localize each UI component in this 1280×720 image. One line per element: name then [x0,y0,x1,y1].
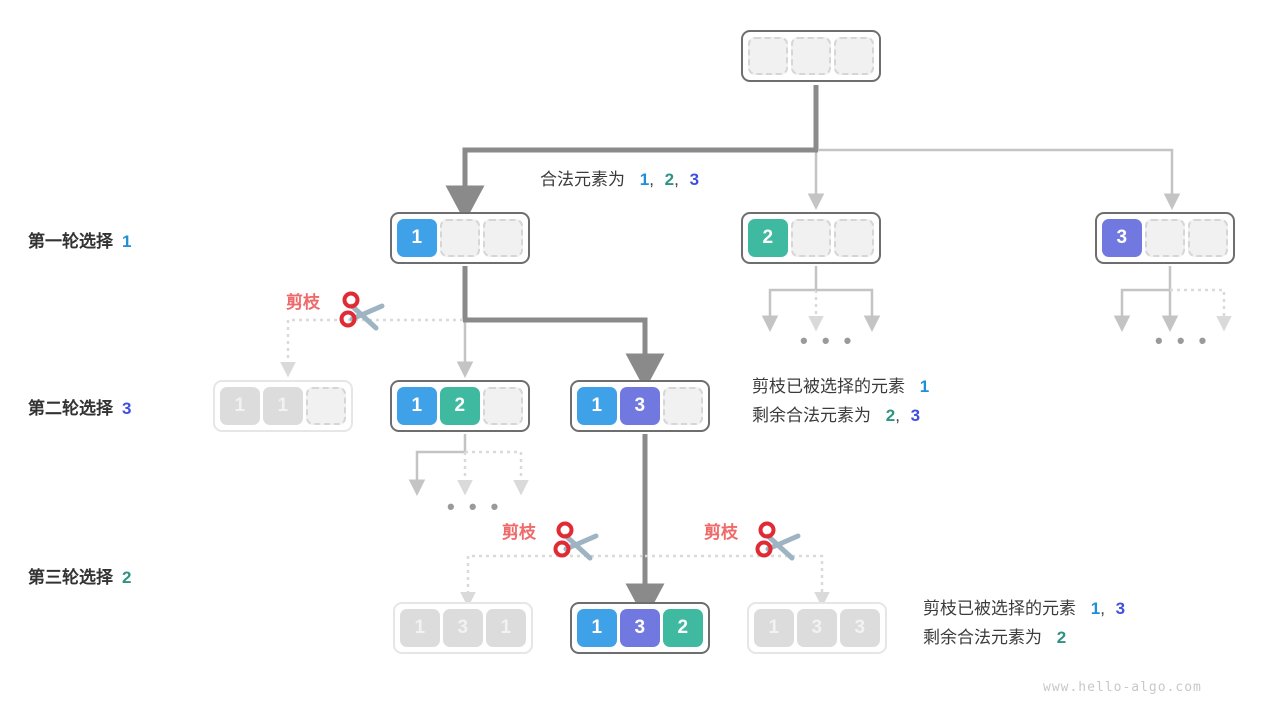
row-label-round-1: 第一轮选择1 [28,227,131,252]
node-cell [663,387,703,425]
annotation-prefix: 剪枝已被选择的元素 [923,599,1076,618]
node-cell [440,219,480,257]
node-cell: 1 [754,609,794,647]
annotation-value: 2 [665,170,674,189]
row-label-round-3: 第三轮选择2 [28,563,131,588]
annotation-value: 2 [886,406,895,425]
row-label-text: 第一轮选择 [28,232,113,251]
node-cell: 3 [620,387,660,425]
diagram-canvas: 1 2 3 1 1 1 2 1 3 1 3 1 1 3 2 1 [0,0,1280,720]
node-level1-2[interactable]: 2 [741,212,881,264]
annotation-prune-middle: 剪枝已被选择的元素 1 剩余合法元素为 2, 3 [752,372,929,430]
annotation-value: 1 [1091,599,1100,618]
node-cell [748,37,788,75]
node-cell [1145,219,1185,257]
node-cell: 3 [840,609,880,647]
node-cell: 2 [663,609,703,647]
node-cell [1188,219,1228,257]
node-cell: 1 [220,387,260,425]
node-cell [791,37,831,75]
annotation-prefix: 剩余合法元素为 [752,406,871,425]
ellipsis-under-node-3: • • • [1155,330,1210,352]
node-cell [483,387,523,425]
annotation-prefix: 剪枝已被选择的元素 [752,377,905,396]
annotation-prefix: 合法元素为 [540,170,625,189]
row-label-text: 第二轮选择 [28,399,113,418]
annotation-prefix: 剩余合法元素为 [923,628,1042,647]
watermark: www.hello-algo.com [1043,680,1202,695]
scissors-icon-1 [332,288,388,340]
node-cell [306,387,346,425]
node-cell: 2 [440,387,480,425]
annotation-line: 剩余合法元素为 2 [923,623,1125,652]
annotation-line: 剪枝已被选择的元素 1, 3 [923,594,1125,623]
scissors-icon-3 [748,518,804,570]
annotation-prune-bottom: 剪枝已被选择的元素 1, 3 剩余合法元素为 2 [923,594,1125,652]
annotation-value: 3 [1116,599,1125,618]
annotation-line: 剪枝已被选择的元素 1 [752,372,929,401]
annotation-line: 剩余合法元素为 2, 3 [752,401,929,430]
node-cell: 3 [797,609,837,647]
node-level3-pruned-131[interactable]: 1 3 1 [393,602,533,654]
annotation-value: 1 [640,170,649,189]
ellipsis-under-node-12: • • • [447,496,502,518]
node-level1-1[interactable]: 1 [390,212,530,264]
annotation-value: 3 [690,170,699,189]
node-cell: 1 [486,609,526,647]
row-label-text: 第三轮选择 [28,568,113,587]
node-cell: 1 [577,609,617,647]
node-level3-pruned-133[interactable]: 1 3 3 [747,602,887,654]
node-level2-12[interactable]: 1 2 [390,380,530,432]
prune-label-3: 剪枝 [704,518,738,543]
prune-label-1: 剪枝 [286,288,320,313]
node-cell: 1 [577,387,617,425]
node-cell: 1 [263,387,303,425]
node-level1-3[interactable]: 3 [1095,212,1235,264]
scissors-icon-2 [546,518,602,570]
node-cell: 1 [397,219,437,257]
node-cell [834,219,874,257]
node-level2-13[interactable]: 1 3 [570,380,710,432]
node-cell: 3 [443,609,483,647]
row-label-round-2: 第二轮选择3 [28,394,131,419]
node-cell [791,219,831,257]
node-cell: 1 [397,387,437,425]
node-cell: 3 [620,609,660,647]
node-level2-pruned-11[interactable]: 1 1 [213,380,353,432]
annotation-legal-elements-top: 合法元素为 1, 2, 3 [540,165,699,194]
node-cell: 1 [400,609,440,647]
annotation-value: 1 [920,377,929,396]
annotation-value: 3 [911,406,920,425]
row-label-value: 1 [122,232,131,251]
node-cell [834,37,874,75]
node-cell: 3 [1102,219,1142,257]
node-level3-132[interactable]: 1 3 2 [570,602,710,654]
annotation-value: 2 [1057,628,1066,647]
ellipsis-under-node-2: • • • [800,330,855,352]
node-cell: 2 [748,219,788,257]
node-root[interactable] [741,30,881,82]
row-label-value: 2 [122,568,131,587]
prune-label-2: 剪枝 [502,518,536,543]
row-label-value: 3 [122,399,131,418]
node-cell [483,219,523,257]
